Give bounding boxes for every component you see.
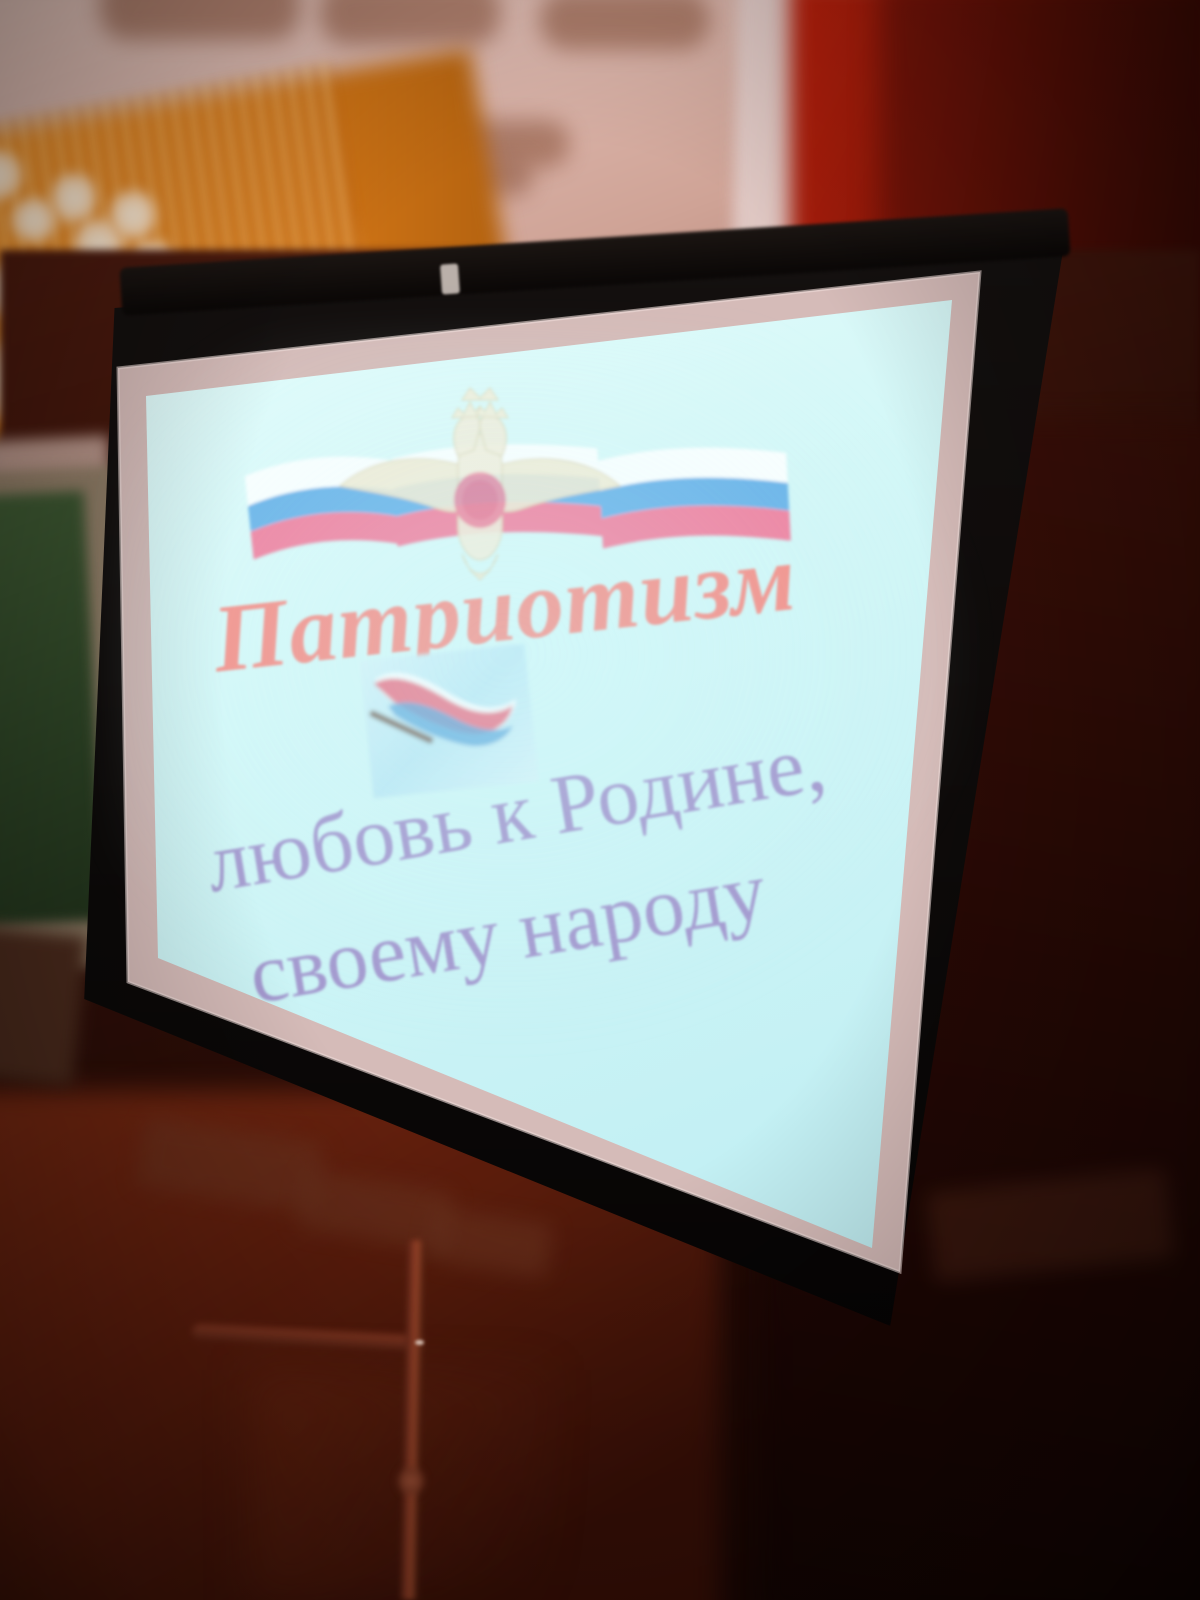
- photo-scene: Патриотизм любовь к Родине, своему народ…: [0, 0, 1200, 1600]
- screen-border: [0, 0, 1200, 1600]
- tripod-adjust-knob: [398, 1468, 424, 1494]
- tripod-highlight: [415, 1340, 424, 1345]
- projection-screen-assembly: Патриотизм любовь к Родине, своему народ…: [0, 0, 1200, 1600]
